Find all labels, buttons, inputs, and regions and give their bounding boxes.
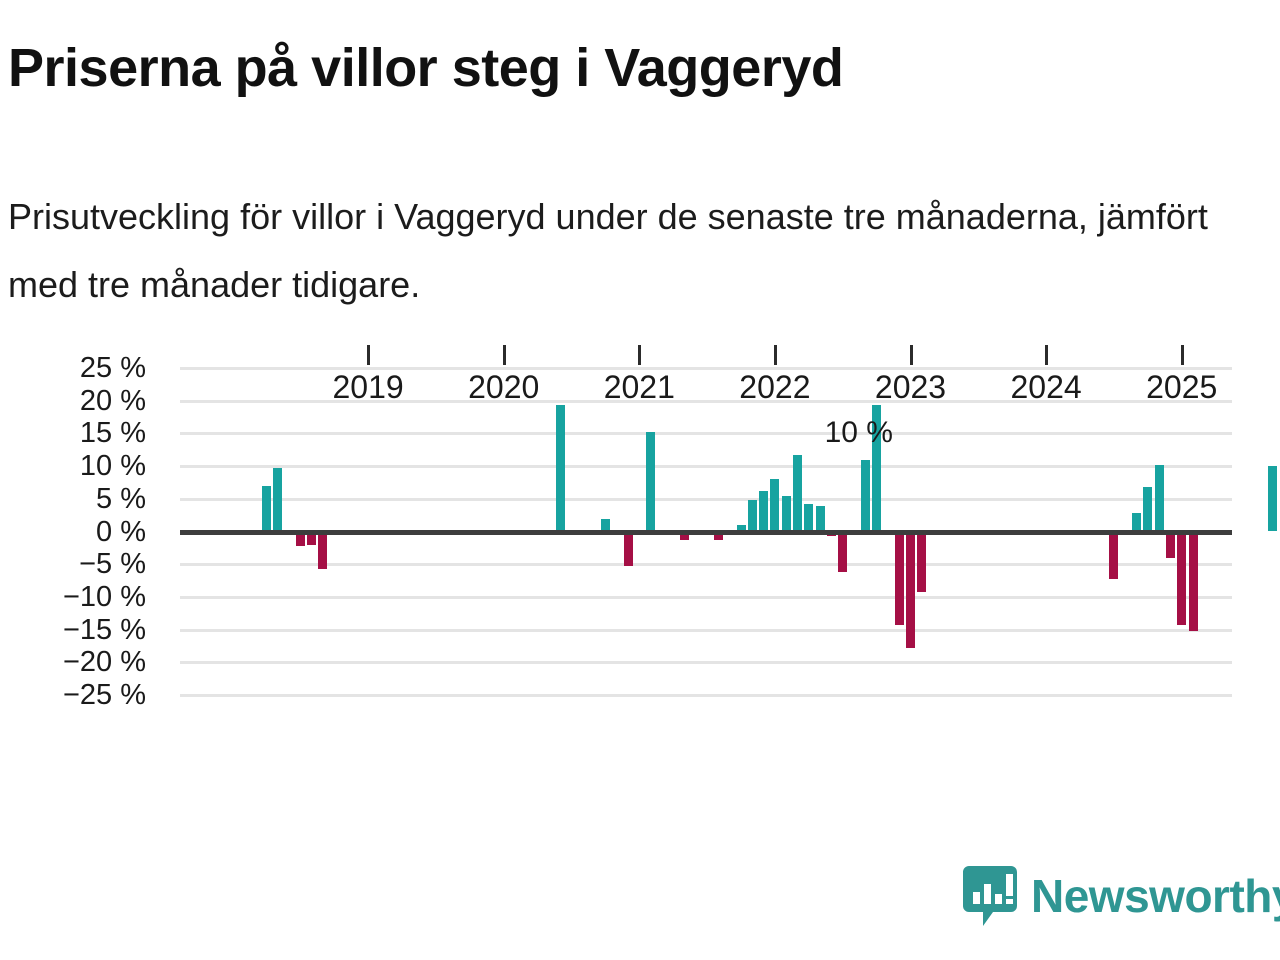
y-axis-tick-label: 0 % <box>6 518 146 547</box>
x-axis-tick <box>1181 345 1184 365</box>
bar <box>816 506 825 532</box>
gridline <box>180 596 1232 599</box>
y-axis-tick-label: −20 % <box>6 648 146 677</box>
gridline <box>180 694 1232 697</box>
gridline <box>180 563 1232 566</box>
x-axis-tick <box>367 345 370 365</box>
bar <box>646 432 655 531</box>
gridline <box>180 498 1232 501</box>
bar <box>748 500 757 531</box>
page-subtitle: Prisutveckling för villor i Vaggeryd und… <box>8 183 1238 319</box>
bar <box>1177 532 1186 626</box>
zero-line <box>180 530 1232 535</box>
bar <box>906 532 915 648</box>
newsworthy-bar-chart-bubble-icon <box>963 866 1017 926</box>
bar <box>1268 466 1277 531</box>
bar <box>1189 532 1198 631</box>
y-axis-tick-label: −10 % <box>6 583 146 612</box>
bar <box>273 468 282 531</box>
x-axis-tick <box>774 345 777 365</box>
logo-wordmark: Newsworthy <box>1031 873 1280 919</box>
x-axis: 2019202020212022202320242025 <box>180 345 1280 415</box>
plot-area <box>180 368 1232 695</box>
bar <box>838 532 847 573</box>
bar <box>861 460 870 532</box>
bar <box>770 479 779 532</box>
bar <box>1166 532 1175 558</box>
x-axis-tick-label: 2025 <box>1102 369 1262 405</box>
y-axis-tick-label: 5 % <box>6 485 146 514</box>
bar <box>895 532 904 626</box>
bar <box>318 532 327 570</box>
bar <box>624 532 633 567</box>
bar <box>262 486 271 532</box>
value-annotation: 10 % <box>825 418 893 448</box>
bar <box>1143 487 1152 531</box>
x-axis-tick <box>910 345 913 365</box>
bar <box>917 532 926 593</box>
x-axis-tick <box>638 345 641 365</box>
gridline <box>180 432 1232 435</box>
gridline <box>180 661 1232 664</box>
y-axis-tick-label: −25 % <box>6 681 146 710</box>
page-title: Priserna på villor steg i Vaggeryd <box>8 36 1248 100</box>
bar <box>793 455 802 532</box>
y-axis-tick-label: 25 % <box>6 354 146 383</box>
y-axis-tick-label: 20 % <box>6 387 146 416</box>
y-axis-tick-label: −5 % <box>6 550 146 579</box>
bar <box>782 496 791 531</box>
bar <box>1155 465 1164 531</box>
y-axis-tick-label: −15 % <box>6 616 146 645</box>
newsworthy-logo: Newsworthy <box>963 864 1280 928</box>
x-axis-tick <box>503 345 506 365</box>
bar <box>759 491 768 532</box>
x-axis-tick <box>1045 345 1048 365</box>
bar <box>804 504 813 531</box>
y-axis-tick-label: 10 % <box>6 452 146 481</box>
bar <box>556 405 565 531</box>
gridline <box>180 629 1232 632</box>
y-axis-tick-label: 15 % <box>6 419 146 448</box>
gridline <box>180 465 1232 468</box>
bar <box>1109 532 1118 580</box>
